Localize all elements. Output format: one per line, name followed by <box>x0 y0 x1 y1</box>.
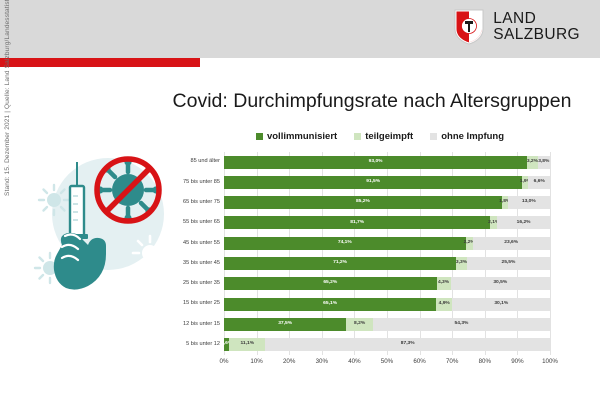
x-axis-tick-label: 30% <box>316 358 328 365</box>
header-red-accent-bar <box>0 58 200 67</box>
gridline <box>550 152 551 355</box>
x-axis-tick-label: 0% <box>220 358 229 365</box>
chart-row[interactable]: 12 bis unter 1537,5%8,2%54,3% <box>224 314 550 334</box>
bar-segment-vollimmunisiert[interactable]: 37,5% <box>224 318 346 331</box>
bar-segment-teilgeimpft[interactable]: 2,1% <box>490 216 497 229</box>
bar-value-label: 3,8% <box>538 160 549 165</box>
category-label: 65 bis unter 75 <box>100 200 220 206</box>
bar-value-label: 25,5% <box>501 261 515 266</box>
source-note: Stand: 15. Dezember 2021 | Quelle: Land … <box>4 0 11 196</box>
bar-segment-ohne-impfung[interactable]: 23,6% <box>473 237 550 250</box>
chart-legend: vollimmunisiert teilgeimpft ohne Impfung <box>180 131 580 142</box>
x-axis-tick-label: 80% <box>479 358 491 365</box>
category-label: 25 bis unter 35 <box>100 281 220 287</box>
bar-value-label: 37,5% <box>278 322 292 327</box>
x-axis-tick-label: 20% <box>283 358 295 365</box>
bar-value-label: 30,5% <box>493 281 507 286</box>
bar-segment-ohne-impfung[interactable]: 54,3% <box>373 318 550 331</box>
bar-value-label: 74,1% <box>338 241 352 246</box>
bar-value-label: 16,2% <box>517 221 531 226</box>
bar-value-label: 71,2% <box>333 261 347 266</box>
bar-value-label: 4,3% <box>438 281 449 286</box>
bar-value-label: 65,2% <box>323 281 337 286</box>
bar-value-label: 13,0% <box>522 200 536 205</box>
chart-row[interactable]: 25 bis unter 3565,2%4,3%30,5% <box>224 274 550 294</box>
salzburg-coat-of-arms-icon <box>454 9 484 45</box>
x-axis-tick-label: 60% <box>413 358 425 365</box>
legend-item-vollimmunisiert: vollimmunisiert <box>256 131 337 142</box>
bar-segment-teilgeimpft[interactable]: 11,1% <box>229 338 265 351</box>
legend-swatch-vollimmunisiert <box>256 133 263 140</box>
category-label: 12 bis unter 15 <box>100 322 220 328</box>
bar-segment-vollimmunisiert[interactable]: 74,1% <box>224 237 466 250</box>
logo-wordmark: LAND SALZBURG <box>493 11 580 43</box>
x-axis-tick-label: 90% <box>511 358 523 365</box>
bar-value-label: 65,1% <box>323 302 337 307</box>
bar-segment-ohne-impfung[interactable]: 6,6% <box>528 176 550 189</box>
bar-segment-teilgeimpft[interactable]: 3,3% <box>456 257 467 270</box>
bar-segment-vollimmunisiert[interactable]: 93,0% <box>224 156 527 169</box>
chart-row[interactable]: 5 bis unter 121,6%11,1%87,3% <box>224 335 550 355</box>
category-label: 75 bis unter 85 <box>100 180 220 186</box>
infographic-page: LAND SALZBURG Stand: 15. Dezember 2021 |… <box>0 0 600 400</box>
bar-value-label: 54,3% <box>455 322 469 327</box>
logo-line-salzburg: SALZBURG <box>493 27 580 43</box>
stacked-bar-chart: 85 und älter93,0%3,2%3,8%75 bis unter 85… <box>178 152 574 374</box>
category-label: 45 bis unter 55 <box>100 241 220 247</box>
bar-segment-ohne-impfung[interactable]: 16,2% <box>497 216 550 229</box>
legend-label-teilgeimpft: teilgeimpft <box>365 131 413 142</box>
legend-swatch-ohne-impfung <box>430 133 437 140</box>
bar-segment-teilgeimpft[interactable]: 3,2% <box>527 156 537 169</box>
bar-value-label: 91,5% <box>366 180 380 185</box>
legend-item-ohne-impfung: ohne Impfung <box>430 131 504 142</box>
category-label: 5 bis unter 12 <box>100 342 220 348</box>
bar-value-label: 3,2% <box>527 160 538 165</box>
bar-value-label: 93,0% <box>369 160 383 165</box>
category-label: 15 bis unter 25 <box>100 301 220 307</box>
chart-row[interactable]: 65 bis unter 7585,2%1,8%13,0% <box>224 193 550 213</box>
bar-value-label: 4,9% <box>439 302 450 307</box>
legend-label-ohne-impfung: ohne Impfung <box>441 131 504 142</box>
bar-segment-teilgeimpft[interactable]: 4,9% <box>436 298 452 311</box>
x-axis: 0%10%20%30%40%50%60%70%80%90%100% <box>224 355 550 371</box>
bar-segment-ohne-impfung[interactable]: 30,1% <box>452 298 550 311</box>
bar-value-label: 11,1% <box>240 342 254 347</box>
x-axis-tick-label: 50% <box>381 358 393 365</box>
chart-title: Covid: Durchimpfungsrate nach Altersgrup… <box>150 90 594 113</box>
bar-segment-vollimmunisiert[interactable]: 85,2% <box>224 196 502 209</box>
logo-line-land: LAND <box>493 11 580 27</box>
bar-value-label: 85,2% <box>356 200 370 205</box>
plot-area: 85 und älter93,0%3,2%3,8%75 bis unter 85… <box>224 152 550 355</box>
bar-segment-teilgeimpft[interactable]: 8,2% <box>346 318 373 331</box>
category-label: 35 bis unter 45 <box>100 261 220 267</box>
bar-segment-ohne-impfung[interactable]: 30,5% <box>451 277 550 290</box>
chart-row[interactable]: 85 und älter93,0%3,2%3,8% <box>224 152 550 172</box>
bar-segment-teilgeimpft[interactable]: 2,2% <box>466 237 473 250</box>
bar-segment-vollimmunisiert[interactable]: 65,2% <box>224 277 437 290</box>
bar-segment-vollimmunisiert[interactable]: 65,1% <box>224 298 436 311</box>
bar-value-label: 6,6% <box>534 180 545 185</box>
bar-segment-ohne-impfung[interactable]: 87,3% <box>265 338 550 351</box>
bar-segment-ohne-impfung[interactable]: 13,0% <box>508 196 550 209</box>
land-salzburg-logo: LAND SALZBURG <box>454 9 580 45</box>
bar-value-label: 3,3% <box>456 261 467 266</box>
x-axis-tick-label: 70% <box>446 358 458 365</box>
chart-row[interactable]: 75 bis unter 8591,5%1,9%6,6% <box>224 172 550 192</box>
chart-row[interactable]: 45 bis unter 5574,1%2,2%23,6% <box>224 233 550 253</box>
chart-row[interactable]: 15 bis unter 2565,1%4,9%30,1% <box>224 294 550 314</box>
bar-segment-teilgeimpft[interactable]: 4,3% <box>437 277 451 290</box>
bar-value-label: 81,7% <box>350 221 364 226</box>
bar-segment-ohne-impfung[interactable]: 3,8% <box>538 156 550 169</box>
legend-swatch-teilgeimpft <box>354 133 361 140</box>
bar-segment-vollimmunisiert[interactable]: 91,5% <box>224 176 522 189</box>
x-axis-tick-label: 40% <box>348 358 360 365</box>
bar-value-label: 87,3% <box>401 342 415 347</box>
chart-row[interactable]: 55 bis unter 6581,7%2,1%16,2% <box>224 213 550 233</box>
bar-segment-ohne-impfung[interactable]: 25,5% <box>467 257 550 270</box>
legend-label-vollimmunisiert: vollimmunisiert <box>267 131 337 142</box>
chart-row[interactable]: 35 bis unter 4571,2%3,3%25,5% <box>224 254 550 274</box>
legend-item-teilgeimpft: teilgeimpft <box>354 131 413 142</box>
bar-segment-vollimmunisiert[interactable]: 71,2% <box>224 257 456 270</box>
hand-icon <box>54 233 106 290</box>
x-axis-tick-label: 100% <box>542 358 558 365</box>
category-label: 85 und älter <box>100 159 220 165</box>
bar-value-label: 23,6% <box>504 241 518 246</box>
virus-forbidden-icon <box>96 158 159 221</box>
bar-value-label: 30,1% <box>494 302 508 307</box>
bar-value-label: 8,2% <box>354 322 365 327</box>
bar-segment-vollimmunisiert[interactable]: 81,7% <box>224 216 490 229</box>
category-label: 55 bis unter 65 <box>100 220 220 226</box>
x-axis-tick-label: 10% <box>250 358 262 365</box>
